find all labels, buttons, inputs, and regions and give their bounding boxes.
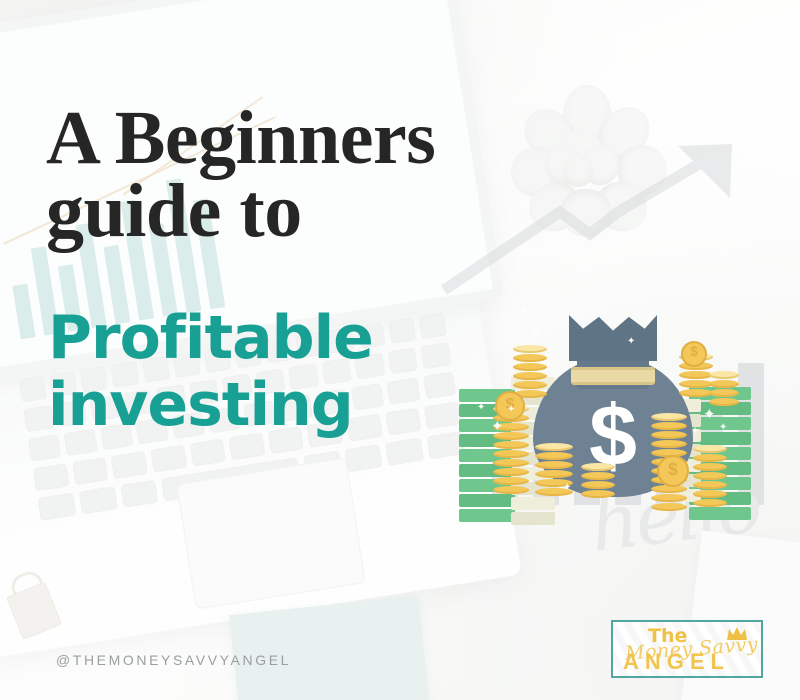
keyboard-key <box>189 439 226 467</box>
sparkle-6: ✦ <box>719 423 727 433</box>
keyboard-key <box>111 451 148 479</box>
mint-sticky-note <box>229 595 431 700</box>
sparkle-5: ✦ <box>703 407 716 422</box>
coin <box>493 441 529 449</box>
coin <box>493 477 529 485</box>
coin <box>651 494 687 502</box>
sparkle-2: ✦ <box>507 405 515 415</box>
coin <box>535 452 573 460</box>
subheadline-line-2: investing <box>48 372 478 439</box>
coin-stack-7 <box>709 371 739 407</box>
coin <box>493 468 529 476</box>
coin <box>493 486 529 494</box>
sparkle-8: ✦ <box>605 319 613 329</box>
keyboard-key <box>72 457 109 485</box>
coin <box>513 345 547 353</box>
keyboard-key <box>150 445 187 473</box>
sparkle-7: ✦ <box>691 427 699 437</box>
banknote <box>459 509 515 522</box>
sparkle-1: ✦ <box>491 419 504 434</box>
keyboard-key <box>33 463 70 491</box>
coin-stack-5 <box>693 445 727 508</box>
coin <box>651 431 687 439</box>
banknote <box>689 507 751 520</box>
sparkle-3: ✦ <box>519 307 527 317</box>
coin <box>693 454 727 462</box>
banknote <box>511 497 555 510</box>
coin <box>679 380 713 388</box>
social-handle: @THEMONEYSAVVYANGEL <box>56 652 291 668</box>
coin <box>693 472 727 480</box>
coin <box>693 463 727 471</box>
coin <box>581 463 615 471</box>
keyboard-key <box>120 480 159 508</box>
coin-stack-1 <box>513 345 547 399</box>
coin <box>513 381 547 389</box>
social-graphic-canvas: hello $ $$$✦✦✦✦✦✦✦✦✦✦✦ A Beginners guide… <box>0 0 800 700</box>
brand-logo[interactable]: The Money Savvy ANGEL <box>611 620 763 678</box>
keyboard-key <box>79 486 118 514</box>
banknote <box>511 512 555 525</box>
coin-face-1: $ <box>657 455 689 487</box>
coin <box>493 450 529 458</box>
screen-bar-0 <box>12 284 35 340</box>
sparkle-0: ✦ <box>477 403 485 413</box>
coin <box>513 363 547 371</box>
coin <box>535 470 573 478</box>
banknote <box>459 494 515 507</box>
money-bag-tie <box>571 367 655 385</box>
coin <box>493 459 529 467</box>
logo-word-angel: ANGEL <box>623 649 730 675</box>
keyboard-key <box>37 493 76 521</box>
headline: A Beginners guide to <box>46 102 546 248</box>
coin <box>679 371 713 379</box>
coin <box>535 461 573 469</box>
coin <box>651 503 687 511</box>
coin <box>581 490 615 498</box>
subheadline-line-1: Profitable <box>48 305 478 372</box>
coin <box>709 398 739 406</box>
headline-line-2: guide to <box>46 175 546 248</box>
coin <box>679 389 713 397</box>
headline-line-1: A Beginners <box>46 102 546 175</box>
coin <box>513 354 547 362</box>
coin <box>693 445 727 453</box>
coin <box>709 389 739 397</box>
coin <box>693 490 727 498</box>
laptop-trackpad <box>176 457 366 609</box>
keyboard-key <box>344 444 383 472</box>
coin <box>513 372 547 380</box>
coin <box>651 422 687 430</box>
coin-stack-3 <box>581 463 615 499</box>
money-illustration: $ $$$✦✦✦✦✦✦✦✦✦✦✦ <box>455 295 765 520</box>
coin-face-2: $ <box>681 341 707 367</box>
coin <box>709 380 739 388</box>
coin <box>651 440 687 448</box>
sparkle-9: ✦ <box>627 337 635 347</box>
keyboard-key <box>385 438 424 466</box>
coin <box>651 413 687 421</box>
coin <box>693 481 727 489</box>
coin <box>535 443 573 451</box>
coin <box>693 499 727 507</box>
subheadline: Profitable investing <box>48 305 478 439</box>
sparkle-10: ✦ <box>563 483 571 493</box>
coin <box>709 371 739 379</box>
crown-icon <box>726 626 748 644</box>
coin <box>581 472 615 480</box>
sparkle-4: ✦ <box>529 325 542 340</box>
coin <box>581 481 615 489</box>
keyboard-key <box>19 376 47 403</box>
